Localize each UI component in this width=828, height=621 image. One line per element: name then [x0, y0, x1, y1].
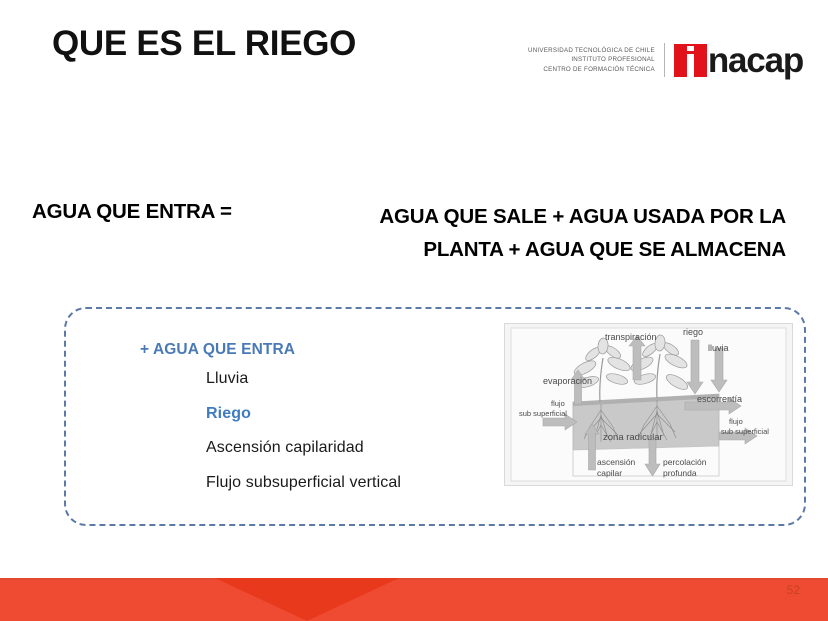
bullet-dot-icon: ·	[140, 444, 206, 455]
water-balance-equation: AGUA QUE ENTRA = AGUA QUE SALE + AGUA US…	[0, 198, 828, 268]
water-balance-diagram-image: transpiración riego lluvia evaporación e…	[504, 323, 793, 486]
list-item-label: Flujo subsuperficial vertical	[206, 474, 401, 492]
equation-right-line-1: AGUA QUE SALE + AGUA USADA POR LA	[316, 200, 786, 233]
diagram-label-percolacion-1: percolación	[663, 457, 707, 467]
inflow-list-heading: + AGUA QUE ENTRA	[140, 341, 490, 359]
list-item-label: Ascensión capilaridad	[206, 439, 364, 457]
logo-text-block: UNIVERSIDAD TECNOLÓGICA DE CHILE INSTITU…	[528, 46, 664, 75]
list-item-label: Riego	[206, 405, 251, 423]
bullet-dot-icon: ·	[140, 479, 206, 490]
equation-left-term: AGUA QUE ENTRA =	[32, 200, 232, 224]
list-item: · Flujo subsuperficial vertical	[140, 474, 490, 509]
diagram-label-flujo-izq-1: flujo	[551, 399, 565, 408]
diagram-label-zona-radicular: zona radicular	[603, 432, 663, 443]
diagram-label-ascension-1: ascensión	[597, 457, 636, 467]
footer-top-line	[0, 578, 828, 580]
list-item-label: Lluvia	[206, 370, 248, 388]
page-title: QUE ES EL RIEGO	[52, 24, 356, 64]
diagram-label-percolacion-2: profunda	[663, 468, 697, 478]
inacap-logo: UNIVERSIDAD TECNOLÓGICA DE CHILE INSTITU…	[528, 38, 803, 82]
bullet-dot-icon: ·	[140, 410, 206, 421]
bullet-dot-icon: ·	[140, 375, 206, 386]
equation-right-term: AGUA QUE SALE + AGUA USADA POR LA PLANTA…	[316, 200, 786, 266]
diagram-label-ascension-2: capilar	[597, 468, 622, 478]
footer-bar: 52	[0, 578, 828, 621]
footer-chevron-shape	[215, 578, 399, 621]
diagram-label-transpiracion: transpiración	[605, 332, 657, 342]
slide-number: 52	[787, 583, 800, 597]
slide: QUE ES EL RIEGO UNIVERSIDAD TECNOLÓGICA …	[0, 0, 828, 621]
diagram-label-evaporacion: evaporación	[543, 376, 592, 386]
diagram-label-flujo-der-2: sub superficial	[721, 427, 769, 436]
logo-line-1: UNIVERSIDAD TECNOLÓGICA DE CHILE	[528, 46, 655, 56]
diagram-label-flujo-der-1: flujo	[729, 417, 743, 426]
logo-divider	[664, 43, 665, 77]
list-item: · Riego	[140, 405, 490, 440]
logo-line-3: CENTRO DE FORMACIÓN TÉCNICA	[528, 65, 655, 75]
diagram-label-lluvia: lluvia	[708, 343, 729, 353]
logo-mark: nacap	[674, 44, 803, 77]
logo-square-i-icon	[674, 44, 707, 77]
logo-line-2: INSTITUTO PROFESIONAL	[528, 55, 655, 65]
logo-wordmark: nacap	[708, 44, 803, 77]
diagram-label-flujo-izq-2: sub superficial	[519, 409, 567, 418]
inflow-list: + AGUA QUE ENTRA · Lluvia · Riego · Asce…	[140, 341, 490, 508]
equation-right-line-2: PLANTA + AGUA QUE SE ALMACENA	[316, 233, 786, 266]
diagram-label-escorrentia: escorrentía	[697, 394, 742, 404]
list-item: · Ascensión capilaridad	[140, 439, 490, 474]
list-item: · Lluvia	[140, 370, 490, 405]
diagram-label-riego: riego	[683, 327, 703, 337]
